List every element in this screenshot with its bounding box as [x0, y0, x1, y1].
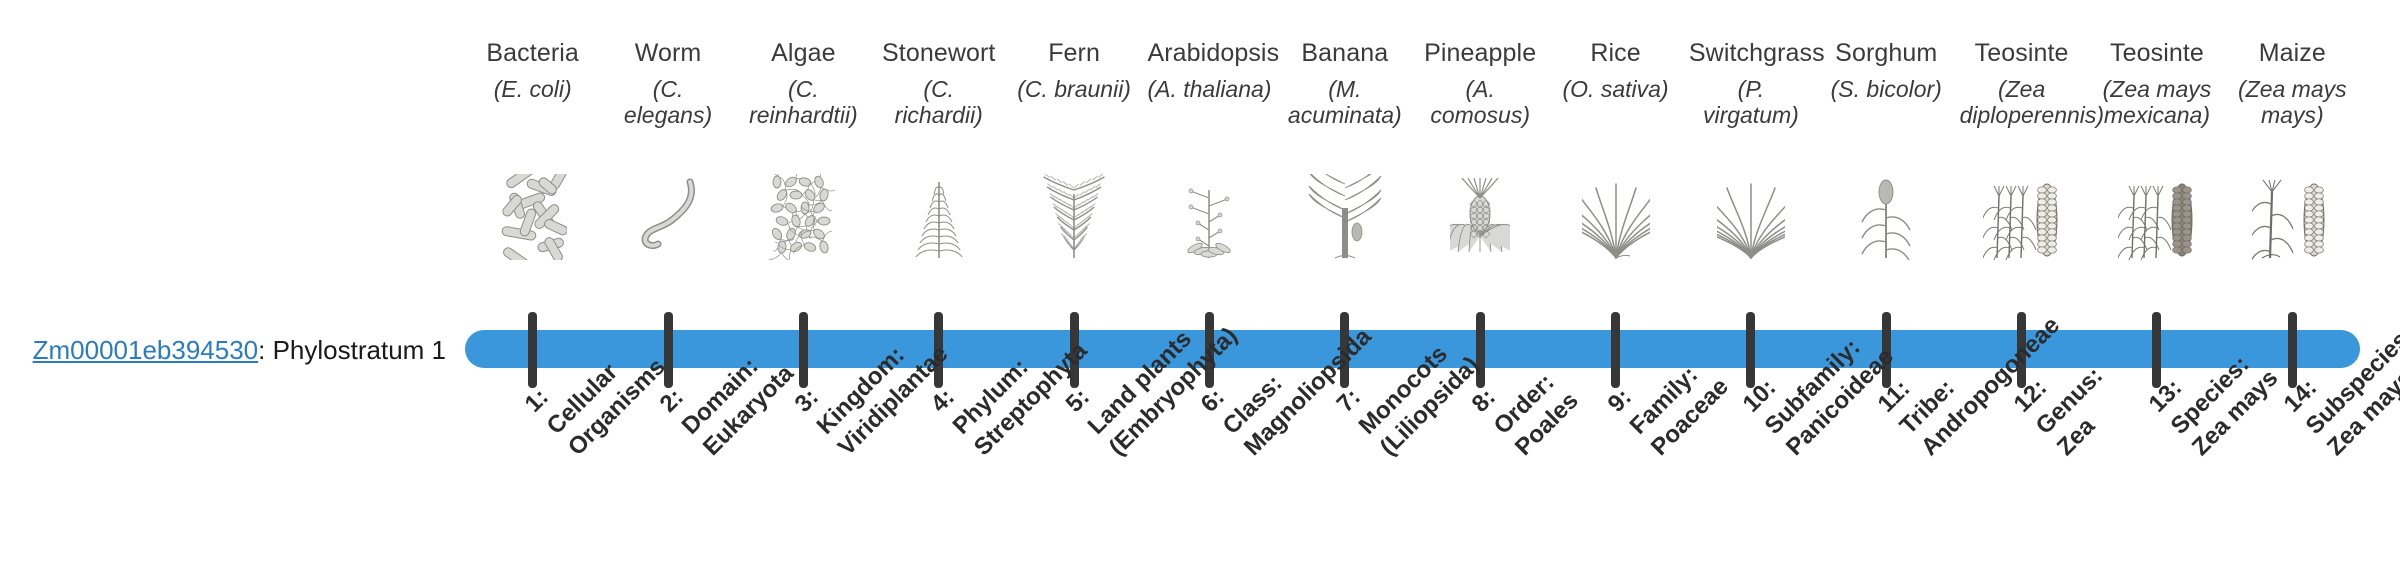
phylostratum-label[interactable]: 10:Subfamily:Panicoideae: [1737, 299, 1901, 463]
gene-id-link[interactable]: Zm00001eb394530: [33, 335, 259, 365]
species-column: Algae(C. reinhardtii): [741, 40, 865, 129]
species-column: Sorghum(S. bicolor): [1824, 40, 1948, 103]
stonewort-icon: [877, 172, 1001, 260]
species-common-name: Switchgrass: [1689, 40, 1813, 66]
species-column: Pineapple(A. comosus): [1418, 40, 1542, 129]
species-common-name: Arabidopsis: [1147, 40, 1271, 66]
phylostratum-label[interactable]: 6:Class:Magnoliopsida: [1195, 279, 1379, 463]
gene-phylostratum-label: Zm00001eb394530: Phylostratum 1: [0, 337, 460, 363]
species-column: Rice(O. sativa): [1554, 40, 1678, 103]
species-latin-name: (E. coli): [471, 77, 595, 103]
phylostratigraphy-figure: Zm00001eb394530: Phylostratum 1 Bacteria…: [0, 0, 2400, 580]
species-common-name: Rice: [1554, 40, 1678, 66]
worm-icon: [606, 172, 730, 260]
species-latin-name: (A. thaliana): [1147, 77, 1271, 103]
gene-label-separator: :: [258, 335, 272, 365]
species-latin-name: (M. acuminata): [1283, 77, 1407, 129]
species-column: Bacteria(E. coli): [471, 40, 595, 103]
species-common-name: Bacteria: [471, 40, 595, 66]
species-latin-name: (C. richardii): [877, 77, 1001, 129]
species-latin-name: (S. bicolor): [1824, 77, 1948, 103]
species-column: Switchgrass(P. virgatum): [1689, 40, 1813, 129]
phylostratum-text: Phylostratum 1: [273, 335, 446, 365]
species-column: Maize(Zea mays mays): [2230, 40, 2354, 129]
species-latin-name: (C. elegans): [606, 77, 730, 129]
species-latin-name: (P. virgatum): [1689, 77, 1813, 129]
sorghum-icon: [1824, 172, 1948, 260]
species-latin-name: (A. comosus): [1418, 77, 1542, 129]
species-latin-name: (Zea mays mays): [2230, 77, 2354, 129]
species-latin-name: (Zea diploperennis): [1960, 77, 2084, 129]
species-column: Teosinte(Zea mays mexicana): [2095, 40, 2219, 129]
rice-icon: [1554, 172, 1678, 260]
species-column: Worm(C. elegans): [606, 40, 730, 129]
switchgrass-icon: [1689, 172, 1813, 260]
species-common-name: Teosinte: [2095, 40, 2219, 66]
teosinte-mexicana-icon: [2095, 172, 2219, 260]
species-common-name: Worm: [606, 40, 730, 66]
phylostratum-tick[interactable]: [528, 312, 537, 388]
species-column: Fern(C. braunii): [1012, 40, 1136, 103]
phylostratum-tick[interactable]: [2152, 312, 2161, 388]
species-latin-name: (C. reinhardtii): [741, 77, 865, 129]
species-column: Teosinte(Zea diploperennis): [1960, 40, 2084, 129]
teosinte-diploperennis-icon: [1960, 172, 2084, 260]
species-column: Stonewort(C. richardii): [877, 40, 1001, 129]
species-common-name: Fern: [1012, 40, 1136, 66]
species-latin-name: (O. sativa): [1554, 77, 1678, 103]
phylostratum-tick[interactable]: [1611, 312, 1620, 388]
species-column: Banana(M. acuminata): [1283, 40, 1407, 129]
species-common-name: Maize: [2230, 40, 2354, 66]
species-common-name: Stonewort: [877, 40, 1001, 66]
phylostratum-tick[interactable]: [2288, 312, 2297, 388]
phylostratum-label[interactable]: 3:Kingdom:Viridiplantae: [789, 296, 956, 463]
phylostratum-label[interactable]: 5:Land plants(Embryophyta): [1060, 278, 1245, 463]
maize-icon: [2230, 172, 2354, 260]
species-common-name: Teosinte: [1960, 40, 2084, 66]
species-common-name: Pineapple: [1418, 40, 1542, 66]
species-common-name: Sorghum: [1824, 40, 1948, 66]
phylostratum-tick[interactable]: [1746, 312, 1755, 388]
bacteria-icon: [471, 172, 595, 260]
arabidopsis-icon: [1147, 172, 1271, 260]
banana-icon: [1283, 172, 1407, 260]
phylostratum-tick[interactable]: [799, 312, 808, 388]
pineapple-icon: [1418, 172, 1542, 260]
species-common-name: Banana: [1283, 40, 1407, 66]
species-column: Arabidopsis(A. thaliana): [1147, 40, 1271, 103]
fern-icon: [1012, 172, 1136, 260]
species-common-name: Algae: [741, 40, 865, 66]
algae-icon: [741, 172, 865, 260]
species-latin-name: (Zea mays mexicana): [2095, 77, 2219, 129]
species-latin-name: (C. braunii): [1012, 77, 1136, 103]
